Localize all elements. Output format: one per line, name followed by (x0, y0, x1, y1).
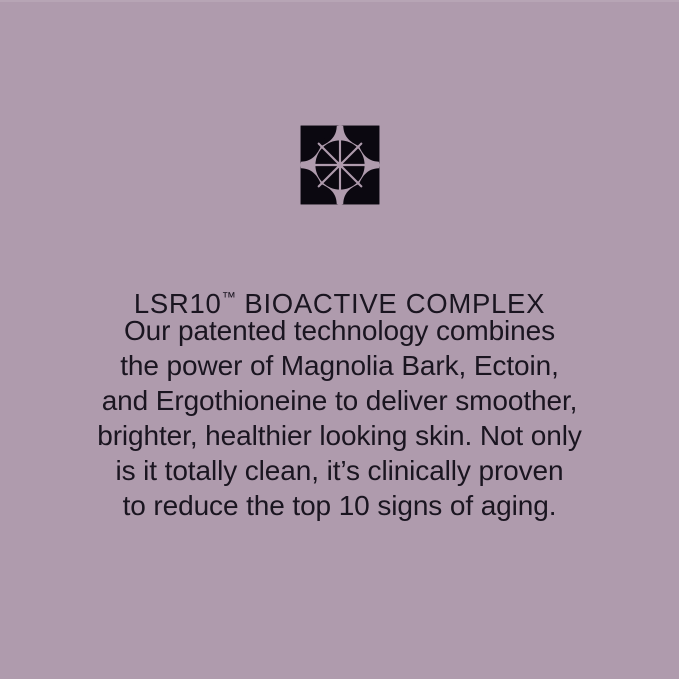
description-line: brighter, healthier looking skin. Not on… (0, 418, 679, 453)
description-text: Our patented technology combines the pow… (0, 313, 679, 523)
description-line: and Ergothioneine to deliver smoother, (0, 383, 679, 418)
top-edge-highlight (0, 0, 679, 2)
center-dot (336, 162, 343, 169)
description-line: is it totally clean, it’s clinically pro… (0, 453, 679, 488)
brand-logo (0, 124, 679, 206)
product-info-card: LSR10™ BIOACTIVE COMPLEX Our patented te… (0, 0, 679, 679)
description-line: the power of Magnolia Bark, Ectoin, (0, 348, 679, 383)
description-line: to reduce the top 10 signs of aging. (0, 488, 679, 523)
description-line: Our patented technology combines (0, 313, 679, 348)
trademark-symbol: ™ (221, 290, 236, 306)
four-petal-clover-icon (297, 124, 383, 206)
